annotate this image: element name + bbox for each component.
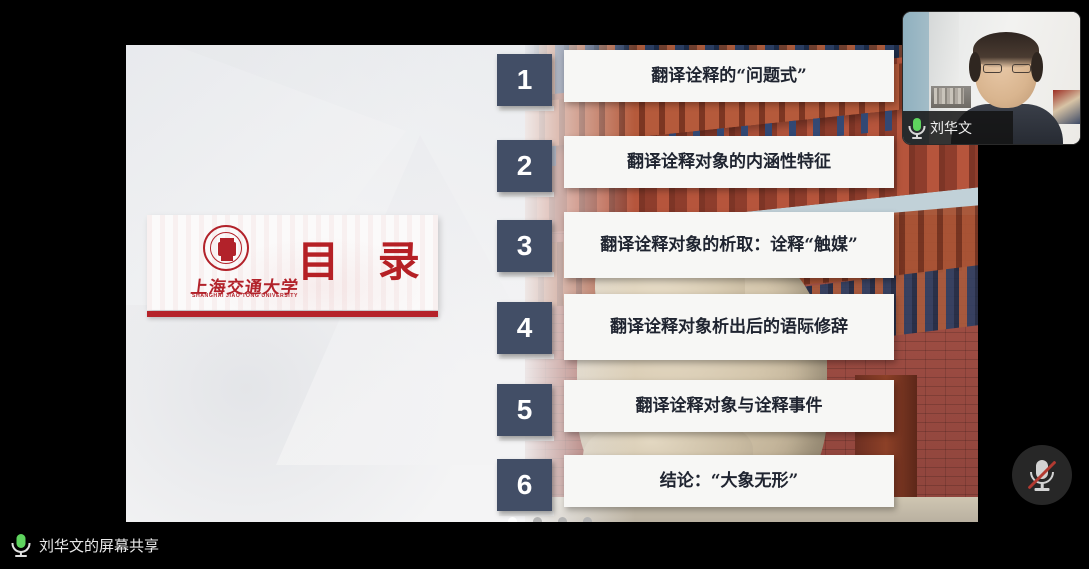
toc-row-6[interactable]: 6 结论：“大象无形” — [497, 459, 978, 519]
video-person-hair — [973, 32, 1039, 68]
toc-label-2: 翻译诠释对象的内涵性特征 — [564, 136, 894, 188]
toc-badge-shadow-5 — [499, 436, 554, 441]
toc-number-1: 1 — [497, 54, 552, 106]
toc-number-6: 6 — [497, 459, 552, 511]
shared-screen-slide[interactable]: 上海交通大学 SHANGHAI JIAO TONG UNIVERSITY 目 录… — [126, 45, 978, 522]
microphone-muted-icon — [1031, 459, 1053, 491]
toc-row-5[interactable]: 5 翻译诠释对象与诠释事件 — [497, 384, 978, 444]
toc-number-4: 4 — [497, 302, 552, 354]
zoom-meeting-window: 上海交通大学 SHANGHAI JIAO TONG UNIVERSITY 目 录… — [0, 0, 1089, 569]
slide-title: 目 录 — [297, 229, 432, 295]
video-person-glasses — [983, 64, 1031, 74]
screen-share-status-bar: 刘华文的屏幕共享 — [0, 522, 1089, 569]
toc-badge-shadow-4 — [499, 354, 554, 359]
logo-card-underline — [147, 311, 438, 317]
toc-number-5: 5 — [497, 384, 552, 436]
mute-toggle-button[interactable] — [1012, 445, 1072, 505]
toc-label-5: 翻译诠释对象与诠释事件 — [564, 380, 894, 432]
screen-share-label: 刘华文的屏幕共享 — [39, 535, 159, 556]
toc-badge-shadow-1 — [499, 106, 554, 111]
toc-label-3: 翻译诠释对象的析取：诠释“触媒” — [564, 212, 894, 278]
video-person-hair-left — [969, 52, 981, 82]
toc-label-1: 翻译诠释的“问题式” — [564, 50, 894, 102]
microphone-active-icon — [909, 117, 924, 139]
video-bookshelf — [931, 86, 971, 108]
toc-row-3[interactable]: 3 翻译诠释对象的析取：诠释“触媒” — [497, 220, 978, 280]
microphone-icon[interactable] — [12, 533, 29, 558]
toc-number-3: 3 — [497, 220, 552, 272]
video-person-hair-right — [1031, 52, 1043, 82]
toc-badge-shadow-3 — [499, 272, 554, 277]
participant-name: 刘华文 — [930, 118, 972, 138]
video-side-object — [1053, 90, 1080, 124]
toc-row-4[interactable]: 4 翻译诠释对象析出后的语际修辞 — [497, 302, 978, 362]
toc-label-4: 翻译诠释对象析出后的语际修辞 — [564, 294, 894, 360]
toc-number-2: 2 — [497, 140, 552, 192]
participant-video-tile[interactable]: 刘华文 — [903, 12, 1080, 144]
participant-name-bar: 刘华文 — [903, 111, 1013, 144]
university-logo-card: 上海交通大学 SHANGHAI JIAO TONG UNIVERSITY 目 录 — [147, 215, 438, 310]
university-seal-icon — [203, 225, 249, 271]
toc-badge-shadow-6 — [499, 511, 554, 516]
toc-row-2[interactable]: 2 翻译诠释对象的内涵性特征 — [497, 140, 978, 200]
toc-label-6: 结论：“大象无形” — [564, 455, 894, 507]
toc-badge-shadow-2 — [499, 192, 554, 197]
